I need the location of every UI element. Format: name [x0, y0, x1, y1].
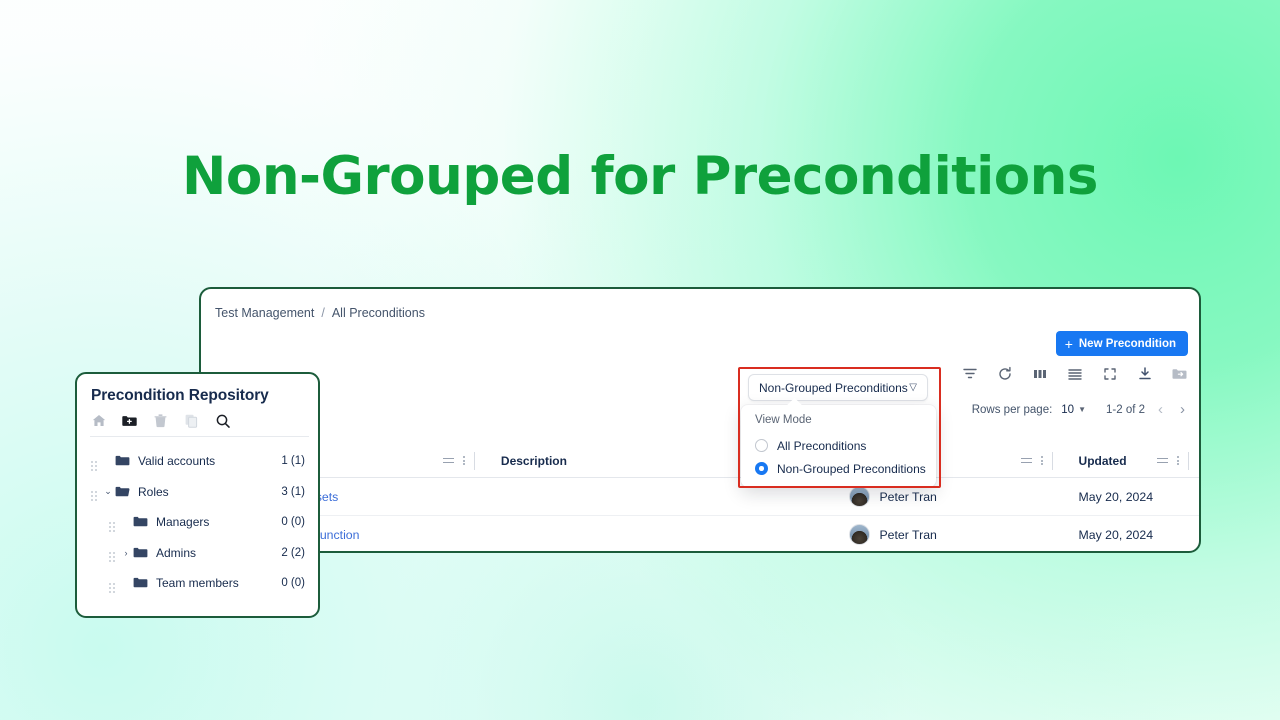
owner-name: Peter Tran	[879, 528, 936, 542]
cell-owner: Peter Tran	[833, 524, 1062, 545]
view-mode-option-label: All Preconditions	[777, 439, 866, 453]
breadcrumb-separator: /	[321, 306, 324, 320]
cell-updated: May 20, 2024	[1063, 490, 1199, 504]
view-mode-option-all[interactable]: All Preconditions	[741, 434, 936, 457]
view-mode-value: Non-Grouped Preconditions	[759, 381, 908, 395]
prev-page-button[interactable]: ‹	[1154, 401, 1167, 418]
table-row[interactable]: 1.0.26 Presets Peter Tran May 20, 2024	[201, 478, 1199, 516]
view-mode-option-label: Non-Grouped Preconditions	[777, 462, 926, 476]
fullscreen-icon[interactable]	[1100, 364, 1119, 383]
column-divider	[1052, 452, 1053, 470]
drag-handle-icon[interactable]	[109, 551, 119, 554]
new-precondition-label: New Precondition	[1079, 338, 1176, 350]
folder-icon	[133, 577, 148, 589]
preconditions-table: Title Description	[201, 444, 1199, 553]
download-icon[interactable]	[1135, 364, 1154, 383]
folder-icon	[133, 547, 148, 559]
drag-handle-icon[interactable]	[109, 582, 119, 585]
chevron-down-icon: ▼	[1078, 405, 1086, 414]
plus-icon: +	[1065, 337, 1073, 351]
rows-per-page-select[interactable]: 10 ▼	[1061, 404, 1086, 416]
filter-icon[interactable]	[960, 364, 979, 383]
owner-name: Peter Tran	[879, 490, 936, 504]
more-menu-icon[interactable]	[1177, 456, 1179, 465]
density-icon[interactable]	[1065, 364, 1084, 383]
column-tools-owner	[1021, 452, 1063, 470]
folder-open-icon	[115, 486, 130, 498]
more-menu-icon[interactable]	[1041, 456, 1043, 465]
sort-icon[interactable]	[1021, 458, 1032, 464]
table-toolbar	[960, 364, 1189, 383]
column-tools-title	[443, 452, 485, 470]
radio-selected-icon[interactable]	[755, 462, 768, 475]
sort-icon[interactable]	[1157, 458, 1168, 464]
tree-item-managers[interactable]: Managers 0 (0)	[77, 507, 318, 538]
copy-icon[interactable]	[183, 412, 200, 429]
breadcrumb: Test Management / All Preconditions	[215, 306, 425, 320]
folder-icon	[133, 516, 148, 528]
tree-item-label: Admins	[156, 546, 196, 560]
pagination: Rows per page: 10 ▼ 1-2 of 2 ‹ ›	[972, 401, 1189, 418]
cell-owner: Peter Tran	[833, 486, 1062, 507]
repository-divider	[90, 436, 309, 437]
view-mode-menu-title: View Mode	[741, 414, 936, 426]
tree-item-label: Roles	[138, 485, 169, 499]
trash-icon[interactable]	[152, 412, 169, 429]
table-header-row: Title Description	[201, 444, 1199, 478]
export-folder-icon[interactable]	[1170, 364, 1189, 383]
columns-icon[interactable]	[1030, 364, 1049, 383]
view-mode-menu: View Mode All Preconditions Non-Grouped …	[741, 405, 936, 487]
tree-item-label: Team members	[156, 576, 239, 590]
pagination-range: 1-2 of 2	[1106, 404, 1145, 416]
breadcrumb-current[interactable]: All Preconditions	[332, 306, 425, 320]
sort-icon[interactable]	[443, 458, 454, 464]
table-row[interactable]: AgileTest Function Peter Tran May 20, 20…	[201, 516, 1199, 553]
chevron-down-icon: ▽	[909, 382, 917, 393]
drag-handle-icon[interactable]	[109, 521, 119, 524]
column-label-updated: Updated	[1079, 454, 1127, 468]
new-precondition-button[interactable]: + New Precondition	[1056, 331, 1188, 356]
chevron-right-icon[interactable]: ›	[119, 548, 133, 558]
precondition-repository-panel: Precondition Repository	[75, 372, 320, 618]
search-icon[interactable]	[214, 412, 231, 429]
avatar	[849, 486, 870, 507]
drag-handle-icon[interactable]	[91, 460, 101, 463]
tree-item-count: 3 (1)	[281, 486, 305, 498]
next-page-button[interactable]: ›	[1176, 401, 1189, 418]
refresh-icon[interactable]	[995, 364, 1014, 383]
more-menu-icon[interactable]	[463, 456, 465, 465]
page-headline: Non-Grouped for Preconditions	[0, 146, 1280, 207]
repository-toolbar	[90, 412, 231, 429]
tree-item-team-members[interactable]: Team members 0 (0)	[77, 568, 318, 599]
tree-item-valid-accounts[interactable]: Valid accounts 1 (1)	[77, 446, 318, 477]
avatar	[849, 524, 870, 545]
test-management-card: Test Management / All Preconditions + Ne…	[199, 287, 1201, 553]
rows-per-page-value: 10	[1061, 404, 1074, 416]
add-folder-icon[interactable]	[121, 412, 138, 429]
cell-updated: May 20, 2024	[1063, 528, 1199, 542]
tree-item-label: Valid accounts	[138, 454, 215, 468]
tree-item-count: 1 (1)	[281, 455, 305, 467]
rows-per-page-label: Rows per page:	[972, 404, 1053, 416]
drag-handle-icon[interactable]	[91, 490, 101, 493]
column-tools-updated	[1157, 452, 1199, 470]
column-label-description: Description	[501, 454, 567, 468]
tree-item-count: 2 (2)	[281, 547, 305, 559]
breadcrumb-root[interactable]: Test Management	[215, 306, 314, 320]
repository-title: Precondition Repository	[91, 387, 269, 405]
view-mode-select[interactable]: Non-Grouped Preconditions ▽	[748, 374, 928, 401]
column-header-updated[interactable]: Updated	[1063, 444, 1199, 478]
home-icon[interactable]	[90, 412, 107, 429]
radio-icon[interactable]	[755, 439, 768, 452]
chevron-down-icon[interactable]: ⌄	[101, 486, 115, 497]
folder-tree: Valid accounts 1 (1) ⌄ Roles 3 (1) Manag…	[77, 446, 318, 599]
column-divider	[474, 452, 475, 470]
folder-icon	[115, 455, 130, 467]
tree-item-count: 0 (0)	[281, 577, 305, 589]
tree-item-admins[interactable]: › Admins 2 (2)	[77, 538, 318, 569]
tree-item-label: Managers	[156, 515, 209, 529]
tree-item-count: 0 (0)	[281, 516, 305, 528]
column-divider	[1188, 452, 1189, 470]
view-mode-option-non-grouped[interactable]: Non-Grouped Preconditions	[741, 457, 936, 480]
tree-item-roles[interactable]: ⌄ Roles 3 (1)	[77, 477, 318, 508]
page-background: Non-Grouped for Preconditions Test Manag…	[0, 0, 1280, 720]
